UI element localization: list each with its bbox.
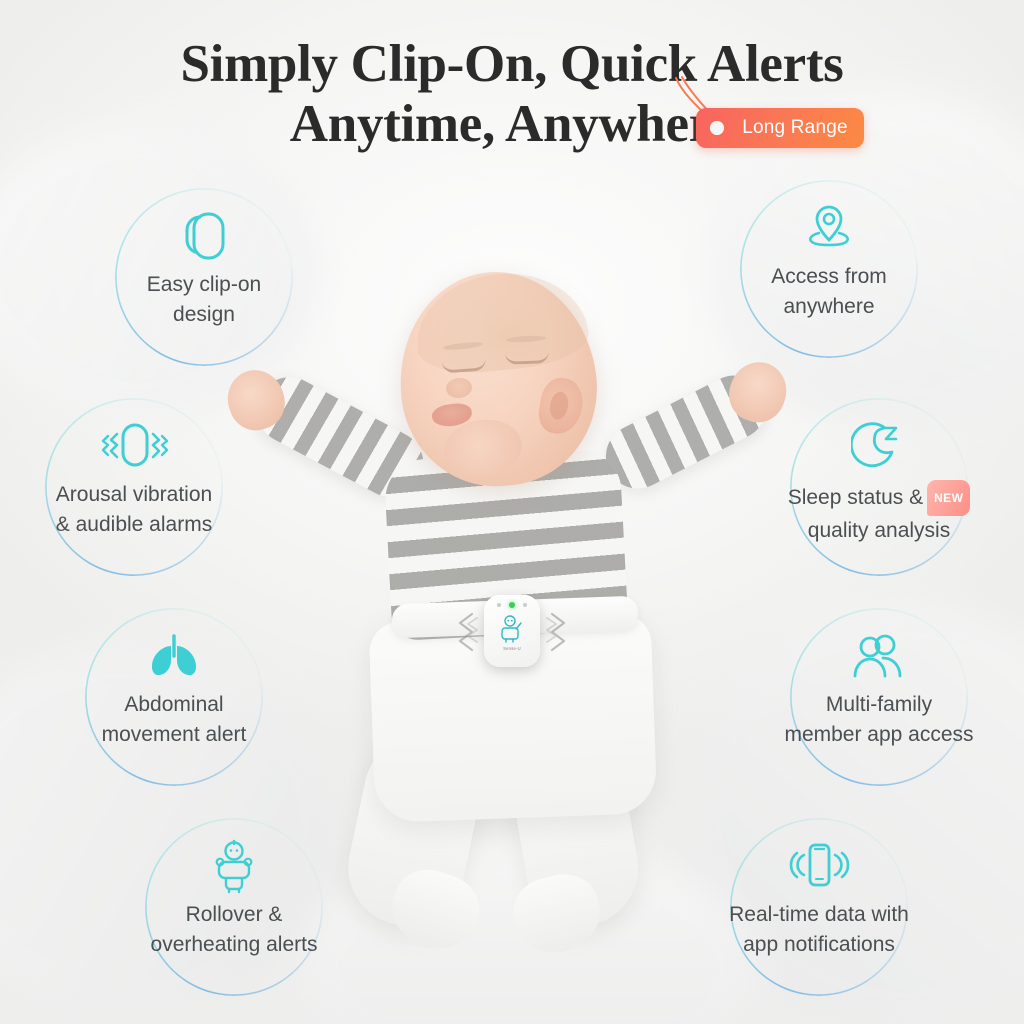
device-led-power bbox=[509, 602, 515, 608]
phone-vibrate-icon bbox=[730, 838, 908, 894]
location-pin-icon bbox=[740, 200, 918, 256]
feature-text: Arousal vibration & audible alarms bbox=[0, 480, 278, 540]
vibration-wave-icon bbox=[546, 612, 572, 654]
feature-arousal-vibration[interactable]: Arousal vibration & audible alarms bbox=[45, 398, 223, 576]
vibration-alarm-icon bbox=[45, 418, 223, 474]
device-led-row bbox=[497, 602, 527, 608]
feature-line-1-text: Sleep status & bbox=[788, 486, 923, 509]
tag-hole bbox=[710, 121, 724, 135]
headline-line-1: Simply Clip-On, Quick Alerts bbox=[0, 34, 1024, 94]
vibration-wave-icon bbox=[452, 612, 478, 654]
baby-icon bbox=[145, 838, 323, 894]
feature-line-1: Sleep status &NEW bbox=[732, 480, 1024, 516]
infographic-canvas: Sense-U Simply Clip-On, Quick Alerts Any… bbox=[0, 0, 1024, 1024]
feature-line-1: Arousal vibration bbox=[0, 480, 278, 510]
feature-line-1: Easy clip-on bbox=[67, 270, 341, 300]
feature-line-2: design bbox=[67, 300, 341, 330]
feature-line-2: & audible alarms bbox=[0, 510, 278, 540]
feature-sleep-status[interactable]: Sleep status &NEW quality analysis bbox=[790, 398, 968, 576]
device-led-left bbox=[497, 603, 501, 607]
device-led-right bbox=[523, 603, 527, 607]
feature-access-from-anywhere[interactable]: Access from anywhere bbox=[740, 180, 918, 358]
feature-line-1: Access from bbox=[692, 262, 966, 292]
feature-easy-clip-on[interactable]: Easy clip-on design bbox=[115, 188, 293, 366]
feature-line-2: quality analysis bbox=[732, 516, 1024, 546]
feature-line-1: Rollover & bbox=[89, 900, 379, 930]
feature-line-1: Multi-family bbox=[728, 690, 1024, 720]
feature-line-2: movement alert bbox=[31, 720, 317, 750]
feature-multi-family-access[interactable]: Multi-family member app access bbox=[790, 608, 968, 786]
feature-line-1: Real-time data with bbox=[668, 900, 970, 930]
device-brand-label: Sense-U bbox=[503, 646, 521, 651]
feature-text: Multi-family member app access bbox=[728, 690, 1024, 750]
page-title: Simply Clip-On, Quick Alerts Anytime, An… bbox=[0, 34, 1024, 154]
feature-line-1: Abdominal bbox=[31, 690, 317, 720]
multi-user-icon bbox=[790, 628, 968, 684]
lungs-icon bbox=[85, 628, 263, 684]
clip-on-icon bbox=[115, 208, 293, 264]
new-badge: NEW bbox=[927, 480, 970, 516]
moon-sleep-icon bbox=[790, 418, 968, 474]
feature-line-2: anywhere bbox=[692, 292, 966, 322]
feature-realtime-notifications[interactable]: Real-time data with app notifications bbox=[730, 818, 908, 996]
device-baby-logo-icon bbox=[499, 614, 525, 644]
feature-rollover-overheating[interactable]: Rollover & overheating alerts bbox=[145, 818, 323, 996]
feature-abdominal-movement[interactable]: Abdominal movement alert bbox=[85, 608, 263, 786]
feature-line-2: overheating alerts bbox=[89, 930, 379, 960]
feature-text: Rollover & overheating alerts bbox=[89, 900, 379, 960]
tag-label: Long Range bbox=[736, 108, 854, 148]
long-range-tag[interactable]: Long Range bbox=[696, 108, 864, 148]
feature-text: Access from anywhere bbox=[692, 262, 966, 322]
feature-line-2: app notifications bbox=[668, 930, 970, 960]
feature-line-2: member app access bbox=[728, 720, 1024, 750]
feature-text: Abdominal movement alert bbox=[31, 690, 317, 750]
feature-text: Easy clip-on design bbox=[67, 270, 341, 330]
feature-text: Real-time data with app notifications bbox=[668, 900, 970, 960]
feature-text: Sleep status &NEW quality analysis bbox=[732, 480, 1024, 546]
sense-u-monitor-device: Sense-U bbox=[484, 595, 540, 667]
